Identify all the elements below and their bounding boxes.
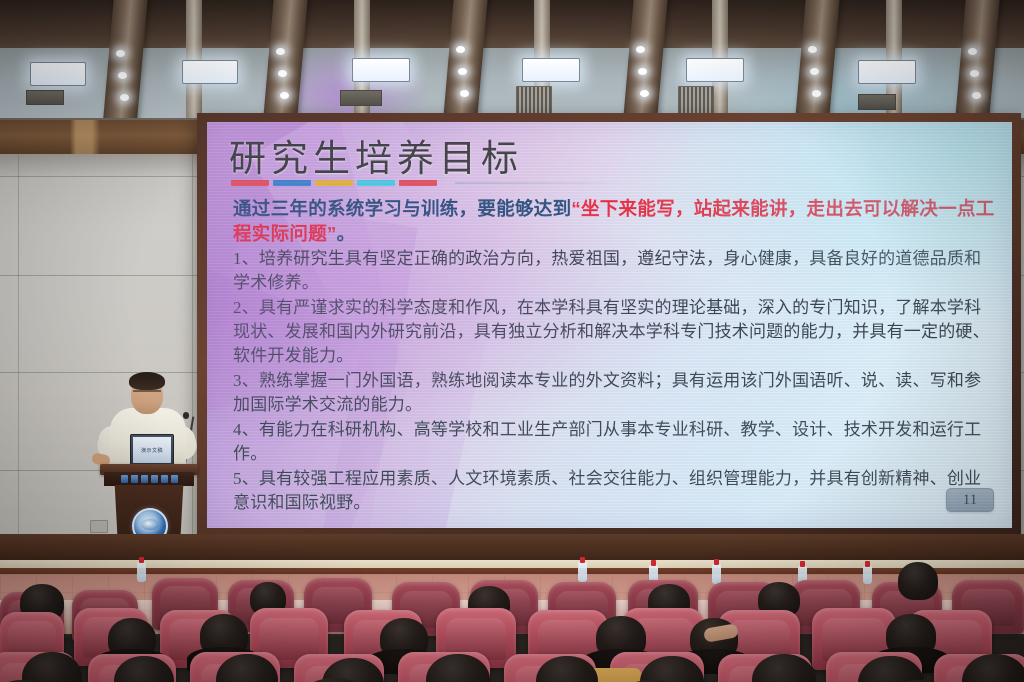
ceiling-downlight — [638, 68, 647, 75]
laptop-screen: 演示文稿 — [133, 437, 171, 463]
ceiling-panel-light — [182, 60, 238, 84]
projection-screen: 研究生培养目标 通过三年的系统学习与训练，要能够达到“坐下来能写，站起来能讲，走… — [207, 122, 1012, 528]
ceiling-downlight — [810, 68, 819, 75]
ceiling-panel-light — [858, 60, 916, 84]
ceiling-panel-light — [686, 58, 744, 82]
ceiling-downlight — [276, 48, 285, 55]
water-bottle — [137, 562, 146, 582]
slide-content: 研究生培养目标 通过三年的系统学习与训练，要能够达到“坐下来能写，站起来能讲，走… — [207, 122, 1012, 528]
slide-page-number: 11 — [946, 488, 994, 512]
laptop-screen-label: 演示文稿 — [141, 447, 163, 454]
audience-head — [898, 562, 938, 600]
nameplate-glyph — [121, 475, 128, 483]
presenter-laptop: 演示文稿 — [130, 434, 174, 466]
slide-body: 通过三年的系统学习与训练，要能够达到“坐下来能写，站起来能讲，走出去可以解决一点… — [233, 196, 998, 515]
rule-segment-red-2 — [399, 180, 437, 186]
ceiling-vent — [26, 90, 64, 105]
microphone-icon — [183, 412, 189, 419]
ceiling-downlight — [640, 90, 649, 97]
ceiling-downlight — [972, 92, 981, 99]
ceiling-downlight — [456, 46, 465, 53]
slide-lead-prefix: 通过三年的系统学习与训练，要能够达到 — [233, 198, 571, 219]
slide-item-1: 1、培养研究生具有坚定正确的政治方向，热爱祖国，遵纪守法，身心健康，具备良好的道… — [233, 247, 998, 295]
ceiling-downlight — [636, 46, 645, 53]
water-bottle — [578, 562, 587, 582]
ceiling-downlight — [968, 48, 977, 55]
podium-nameplate — [104, 472, 194, 486]
ceiling-downlight — [120, 94, 129, 101]
slide-lead-suffix: 。 — [337, 223, 356, 244]
nameplate-glyph — [161, 475, 168, 483]
ceiling-panel-light — [352, 58, 410, 82]
ceiling-downlight — [970, 70, 979, 77]
slide-item-4: 4、有能力在科研机构、高等学校和工业生产部门从事本专业科研、教学、设计、技术开发… — [233, 418, 998, 466]
water-bottle — [712, 564, 721, 584]
water-bottle — [863, 566, 872, 584]
ceiling-vent — [858, 94, 896, 110]
ceiling — [0, 0, 1024, 126]
rule-segment-cyan — [357, 180, 395, 186]
nameplate-glyph — [141, 475, 148, 483]
slide-item-3: 3、熟练掌握一门外国语，熟练地阅读本专业的外文资料；具有运用该门外国语听、说、读… — [233, 369, 998, 417]
rule-segment-gold — [315, 180, 353, 186]
ceiling-downlight — [460, 90, 469, 97]
ceiling-downlight — [458, 68, 467, 75]
nameplate-glyph — [151, 475, 158, 483]
ceiling-downlight — [118, 72, 127, 79]
wall-seam — [18, 118, 19, 564]
nameplate-glyph — [171, 475, 178, 483]
slide-title-rule-tail — [455, 182, 635, 184]
rule-segment-red — [231, 180, 269, 186]
slide-title-rule — [231, 180, 451, 186]
ceiling-downlight — [812, 90, 821, 97]
speaker-hair — [129, 372, 165, 390]
nameplate-glyph — [131, 475, 138, 483]
ceiling-downlight — [116, 50, 125, 57]
ceiling-downlight — [280, 92, 289, 99]
slide-item-5: 5、具有较强工程应用素质、人文环境素质、社会交往能力、组织管理能力，并具有创新精… — [233, 467, 998, 515]
speaker-glasses — [133, 390, 161, 397]
audience-seating — [0, 556, 1024, 682]
slide-item-2: 2、具有严谨求实的科学态度和作风，在本学科具有坚实的理论基础，深入的专门知识，了… — [233, 296, 998, 368]
rule-segment-blue — [273, 180, 311, 186]
ceiling-downlight — [808, 46, 817, 53]
ceiling-downlight — [278, 70, 287, 77]
slide-title: 研究生培养目标 — [229, 128, 523, 182]
slide-lead-paragraph: 通过三年的系统学习与训练，要能够达到“坐下来能写，站起来能讲，走出去可以解决一点… — [233, 196, 998, 246]
ceiling-panel-light — [30, 62, 86, 86]
ceiling-vent — [340, 90, 382, 106]
lecture-hall-photo: 研究生培养目标 通过三年的系统学习与训练，要能够达到“坐下来能写，站起来能讲，走… — [0, 0, 1024, 682]
ceiling-panel-light — [522, 58, 580, 82]
